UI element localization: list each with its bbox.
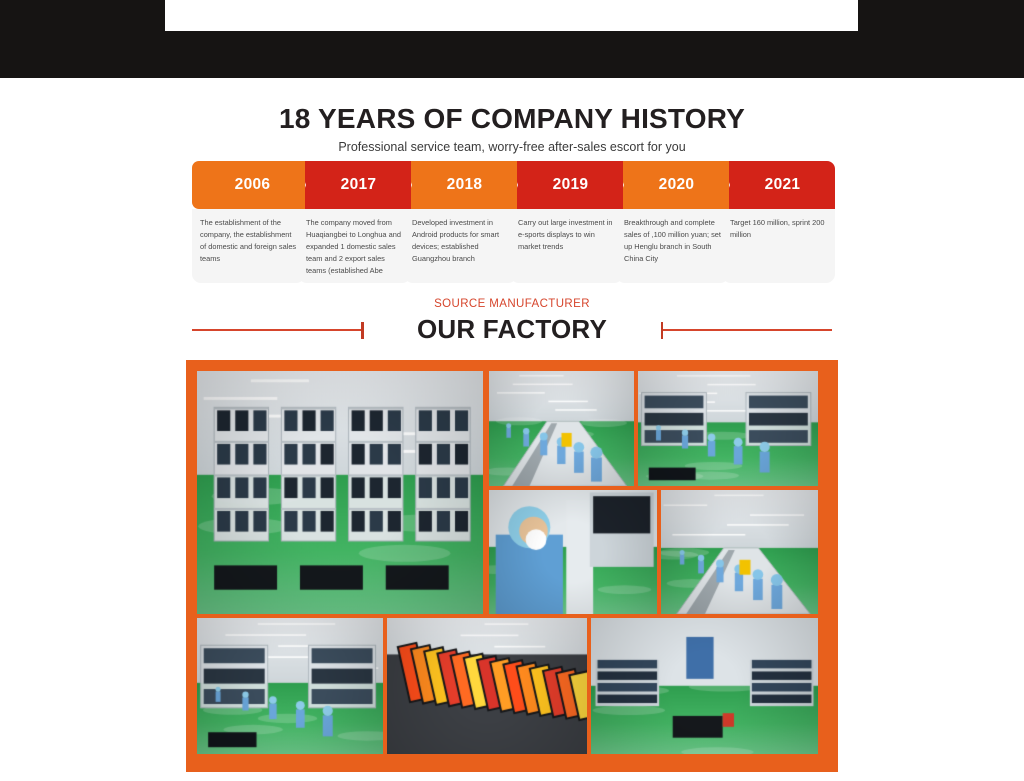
timeline-card-text: Target 160 million, sprint 200 million xyxy=(730,217,827,241)
timeline-card-header: 2020 xyxy=(616,161,729,209)
timeline-card-body: The establishment of the company, the es… xyxy=(192,209,305,283)
factory-photo-collage xyxy=(186,360,838,772)
page-title: 18 YEARS OF COMPANY HISTORY xyxy=(0,104,1024,135)
timeline-card-2020: 2020Breakthrough and complete sales of ,… xyxy=(616,161,729,283)
factory-photo-warehouse-storage-racks xyxy=(591,618,818,754)
timeline-card-text: The company moved from Huaqiangbei to Lo… xyxy=(306,217,403,277)
page-subtitle: Professional service team, worry-free af… xyxy=(0,140,1024,155)
history-timeline: 2006The establishment of the company, th… xyxy=(192,161,838,283)
timeline-card-text: Developed investment in Android products… xyxy=(412,217,509,265)
top-white-inset xyxy=(165,0,858,31)
timeline-year-label: 2019 xyxy=(545,176,589,194)
timeline-card-body: Developed investment in Android products… xyxy=(404,209,517,283)
company-history-section: 18 YEARS OF COMPANY HISTORY Professional… xyxy=(0,78,1024,155)
factory-section-header: SOURCE MANUFACTURER OUR FACTORY xyxy=(0,298,1024,356)
timeline-card-body: Breakthrough and complete sales of ,100 … xyxy=(616,209,729,283)
header-tick-right xyxy=(661,322,664,339)
factory-photo-production-line-overview xyxy=(489,371,634,486)
section-title: OUR FACTORY xyxy=(0,314,1024,345)
header-rule-left xyxy=(192,329,362,331)
timeline-card-2017: 2017The company moved from Huaqiangbei t… xyxy=(298,161,411,283)
timeline-year-label: 2017 xyxy=(333,176,377,194)
header-rule-right xyxy=(662,329,832,331)
timeline-card-2021: 2021Target 160 million, sprint 200 milli… xyxy=(722,161,835,283)
timeline-card-2006: 2006The establishment of the company, th… xyxy=(192,161,305,283)
timeline-card-header: 2021 xyxy=(722,161,835,209)
timeline-card-header: 2017 xyxy=(298,161,411,209)
timeline-card-body: Carry out large investment in e-sports d… xyxy=(510,209,623,283)
timeline-year-label: 2021 xyxy=(757,176,801,194)
timeline-card-header: 2018 xyxy=(404,161,517,209)
timeline-card-header: 2019 xyxy=(510,161,623,209)
timeline-card-body: Target 160 million, sprint 200 million xyxy=(722,209,835,283)
section-eyebrow: SOURCE MANUFACTURER xyxy=(0,298,1024,310)
timeline-year-label: 2018 xyxy=(439,176,483,194)
timeline-year-label: 2020 xyxy=(651,176,695,194)
factory-photo-worker-soldering-closeup xyxy=(489,490,657,614)
factory-photo-conveyor-assembly-hall xyxy=(661,490,818,614)
timeline-card-header: 2006 xyxy=(192,161,305,209)
timeline-year-label: 2006 xyxy=(227,176,271,194)
timeline-card-text: Breakthrough and complete sales of ,100 … xyxy=(624,217,721,265)
timeline-card-body: The company moved from Huaqiangbei to Lo… xyxy=(298,209,411,283)
header-tick-left xyxy=(361,322,364,339)
timeline-card-text: The establishment of the company, the es… xyxy=(200,217,297,265)
factory-photo-assembly-racks-testing-area xyxy=(197,371,483,614)
factory-photo-workers-inspection-station xyxy=(638,371,818,486)
top-black-band xyxy=(0,0,1024,78)
factory-photo-workshop-aisle-wide xyxy=(197,618,383,754)
factory-photo-display-panels-lineup xyxy=(387,618,587,754)
timeline-card-2019: 2019Carry out large investment in e-spor… xyxy=(510,161,623,283)
timeline-card-2018: 2018Developed investment in Android prod… xyxy=(404,161,517,283)
timeline-card-text: Carry out large investment in e-sports d… xyxy=(518,217,615,253)
